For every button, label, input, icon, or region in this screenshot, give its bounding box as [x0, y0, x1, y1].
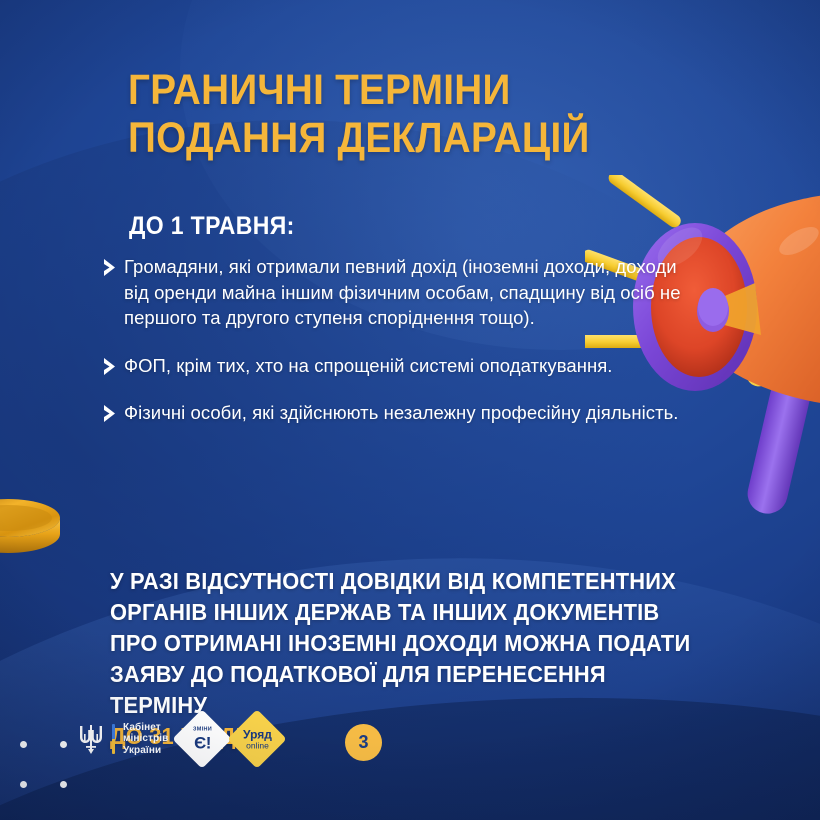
zminy-logo-top-label: ЗМІНИ: [193, 727, 212, 732]
note-body: У РАЗІ ВІДСУТНОСТІ ДОВІДКИ ВІД КОМПЕТЕНТ…: [110, 568, 690, 718]
gold-ring-decoration: [0, 496, 62, 558]
decorative-dot: [60, 781, 67, 788]
uryad-online-logo: Уряд online: [228, 709, 287, 768]
uryad-logo-sub-label: online: [243, 741, 272, 750]
list-item: ФОП, крім тих, хто на спрощеній системі …: [102, 353, 687, 379]
chevron-right-icon: [102, 357, 124, 376]
zminy-ye-logo: ЗМІНИ Є!: [173, 709, 232, 768]
list-item: Громадяни, які отримали певний дохід (ін…: [102, 254, 687, 331]
ukraine-trident-icon: [78, 722, 104, 756]
list-item-label: Фізичні особи, які здійснюють незалежну …: [124, 400, 679, 426]
cabinet-line-3: України: [123, 745, 168, 757]
decorative-dot: [20, 741, 27, 748]
zminy-logo-main-label: Є!: [193, 734, 212, 751]
infographic-poster: ГРАНИЧНІ ТЕРМІНИ ПОДАННЯ ДЕКЛАРАЦІЙ ДО 1…: [0, 0, 820, 820]
cabinet-line-1: Кабінет: [123, 722, 168, 734]
decorative-dot: [20, 781, 27, 788]
chevron-right-icon: [102, 258, 124, 277]
deadline-bullet-list: Громадяни, які отримали певний дохід (ін…: [102, 254, 687, 448]
flag-divider: [112, 724, 115, 754]
list-item-label: Громадяни, які отримали певний дохід (ін…: [124, 254, 687, 331]
list-item-label: ФОП, крім тих, хто на спрощеній системі …: [124, 353, 613, 379]
chevron-right-icon: [102, 404, 124, 423]
footer-logo-row: Кабінет міністрів України ЗМІНИ Є! Уряд …: [78, 718, 278, 760]
page-title: ГРАНИЧНІ ТЕРМІНИ ПОДАННЯ ДЕКЛАРАЦІЙ: [128, 66, 605, 162]
cabinet-of-ministers-logo: Кабінет міністрів України: [78, 722, 168, 757]
list-item: Фізичні особи, які здійснюють незалежну …: [102, 400, 687, 426]
cabinet-line-2: міністрів: [123, 733, 168, 745]
decorative-dot: [60, 741, 67, 748]
cabinet-of-ministers-label: Кабінет міністрів України: [123, 722, 168, 757]
page-number-badge: 3: [345, 724, 382, 761]
section-heading: ДО 1 ТРАВНЯ:: [129, 212, 295, 241]
uryad-logo-main-label: Уряд: [243, 728, 272, 740]
